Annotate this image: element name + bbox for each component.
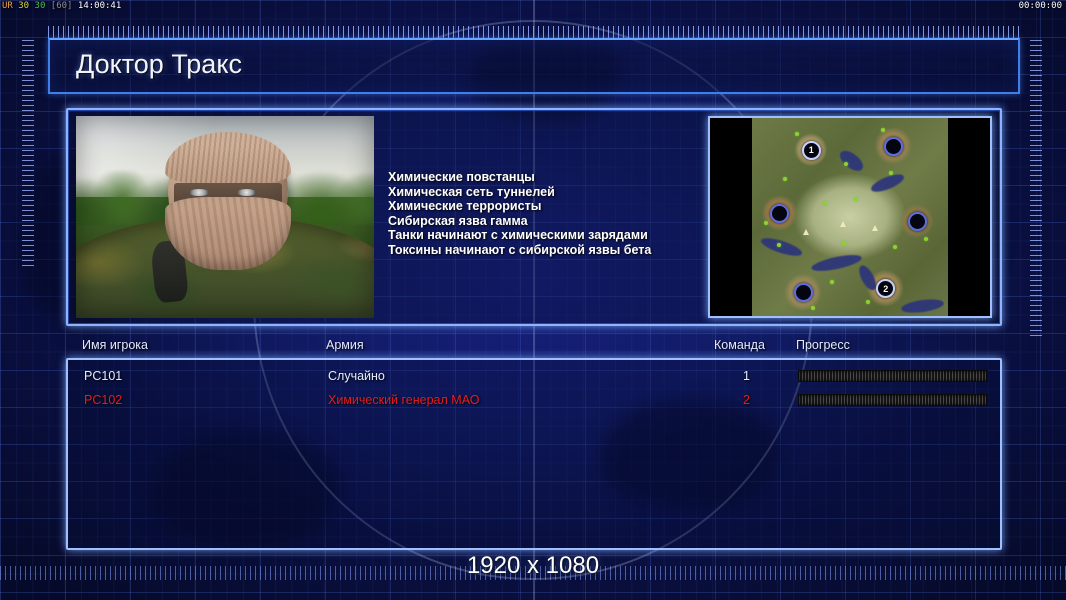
page-title: Доктор Тракс	[76, 49, 242, 80]
map-tree	[783, 177, 787, 181]
table-row[interactable]: PC102Химический генерал МАО2	[68, 390, 1000, 412]
column-header-army: Армия	[326, 338, 364, 352]
player-table-header: Имя игрока Армия Команда Прогресс	[66, 338, 1002, 356]
map-start-position[interactable]: 1	[802, 141, 821, 160]
map-tree	[881, 128, 885, 132]
cell-progress-bar	[798, 394, 988, 406]
cell-team[interactable]: 1	[716, 369, 750, 383]
map-tree	[854, 197, 858, 201]
map-tree	[842, 241, 846, 245]
map-unit-marker	[803, 229, 809, 235]
map-water	[869, 171, 906, 195]
cell-team[interactable]: 2	[716, 393, 750, 407]
map-tree	[830, 280, 834, 284]
debug-value-2: 30	[35, 1, 46, 11]
map-water	[837, 147, 867, 175]
map-start-position[interactable]: 2	[876, 279, 895, 298]
map-unit-marker	[872, 225, 878, 231]
ruler-ticks-left	[22, 40, 34, 270]
table-row[interactable]: PC101Случайно1	[68, 366, 1000, 388]
debug-value-1: 30	[18, 1, 29, 11]
faction-description-line: Химическая сеть туннелей	[388, 185, 718, 200]
ruler-ticks-top	[48, 26, 1020, 38]
cell-player-name: PC101	[84, 369, 122, 383]
debug-prefix: UR	[2, 1, 13, 11]
map-tree	[866, 300, 870, 304]
map-water	[810, 251, 862, 273]
faction-description-line: Химические повстанцы	[388, 170, 718, 185]
faction-description-line: Токсины начинают с сибирской язвы бета	[388, 243, 718, 258]
column-header-player-name: Имя игрока	[82, 338, 148, 352]
debug-value-3: [60]	[51, 1, 73, 11]
map-tree	[844, 162, 848, 166]
map-tree	[893, 245, 897, 249]
map-tree	[823, 201, 827, 205]
debug-overlay-left: UR 30 30 [60] 14:00:41	[2, 1, 121, 11]
resolution-label: 1920 x 1080	[0, 552, 1066, 580]
title-panel: Доктор Тракс	[48, 38, 1020, 94]
map-start-position[interactable]	[770, 204, 789, 223]
map-tree	[924, 237, 928, 241]
map-tree	[811, 306, 815, 310]
map-tree	[795, 132, 799, 136]
faction-description-line: Сибирская язва гамма	[388, 214, 718, 229]
faction-info-panel: Химические повстанцыХимическая сеть тунн…	[66, 108, 1002, 326]
cell-army[interactable]: Химический генерал МАО	[328, 393, 479, 407]
map-start-position[interactable]	[794, 283, 813, 302]
map-water	[759, 234, 804, 259]
map-preview[interactable]: 12	[708, 116, 992, 318]
map-start-position[interactable]	[884, 137, 903, 156]
faction-description-line: Химические террористы	[388, 199, 718, 214]
debug-clock: 14:00:41	[78, 1, 121, 11]
cell-progress-bar	[798, 370, 988, 382]
faction-description-line: Танки начинают с химическими зарядами	[388, 228, 718, 243]
portrait-vignette	[76, 116, 374, 318]
game-lobby-screen: UR 30 30 [60] 14:00:41 00:00:00 Доктор Т…	[0, 0, 1066, 600]
column-header-team: Команда	[714, 338, 765, 352]
general-portrait	[76, 116, 374, 318]
column-header-progress: Прогресс	[796, 338, 850, 352]
map-start-position[interactable]	[908, 212, 927, 231]
map-tree	[764, 221, 768, 225]
player-table-panel: PC101Случайно1PC102Химический генерал МА…	[66, 358, 1002, 550]
map-preview-image: 12	[752, 118, 948, 316]
faction-description-list: Химические повстанцыХимическая сеть тунн…	[388, 170, 718, 258]
match-timer: 00:00:00	[1019, 1, 1062, 11]
map-unit-marker	[840, 221, 846, 227]
ruler-ticks-right	[1030, 40, 1042, 340]
cell-player-name: PC102	[84, 393, 122, 407]
cell-army[interactable]: Случайно	[328, 369, 385, 383]
map-water	[900, 297, 944, 315]
